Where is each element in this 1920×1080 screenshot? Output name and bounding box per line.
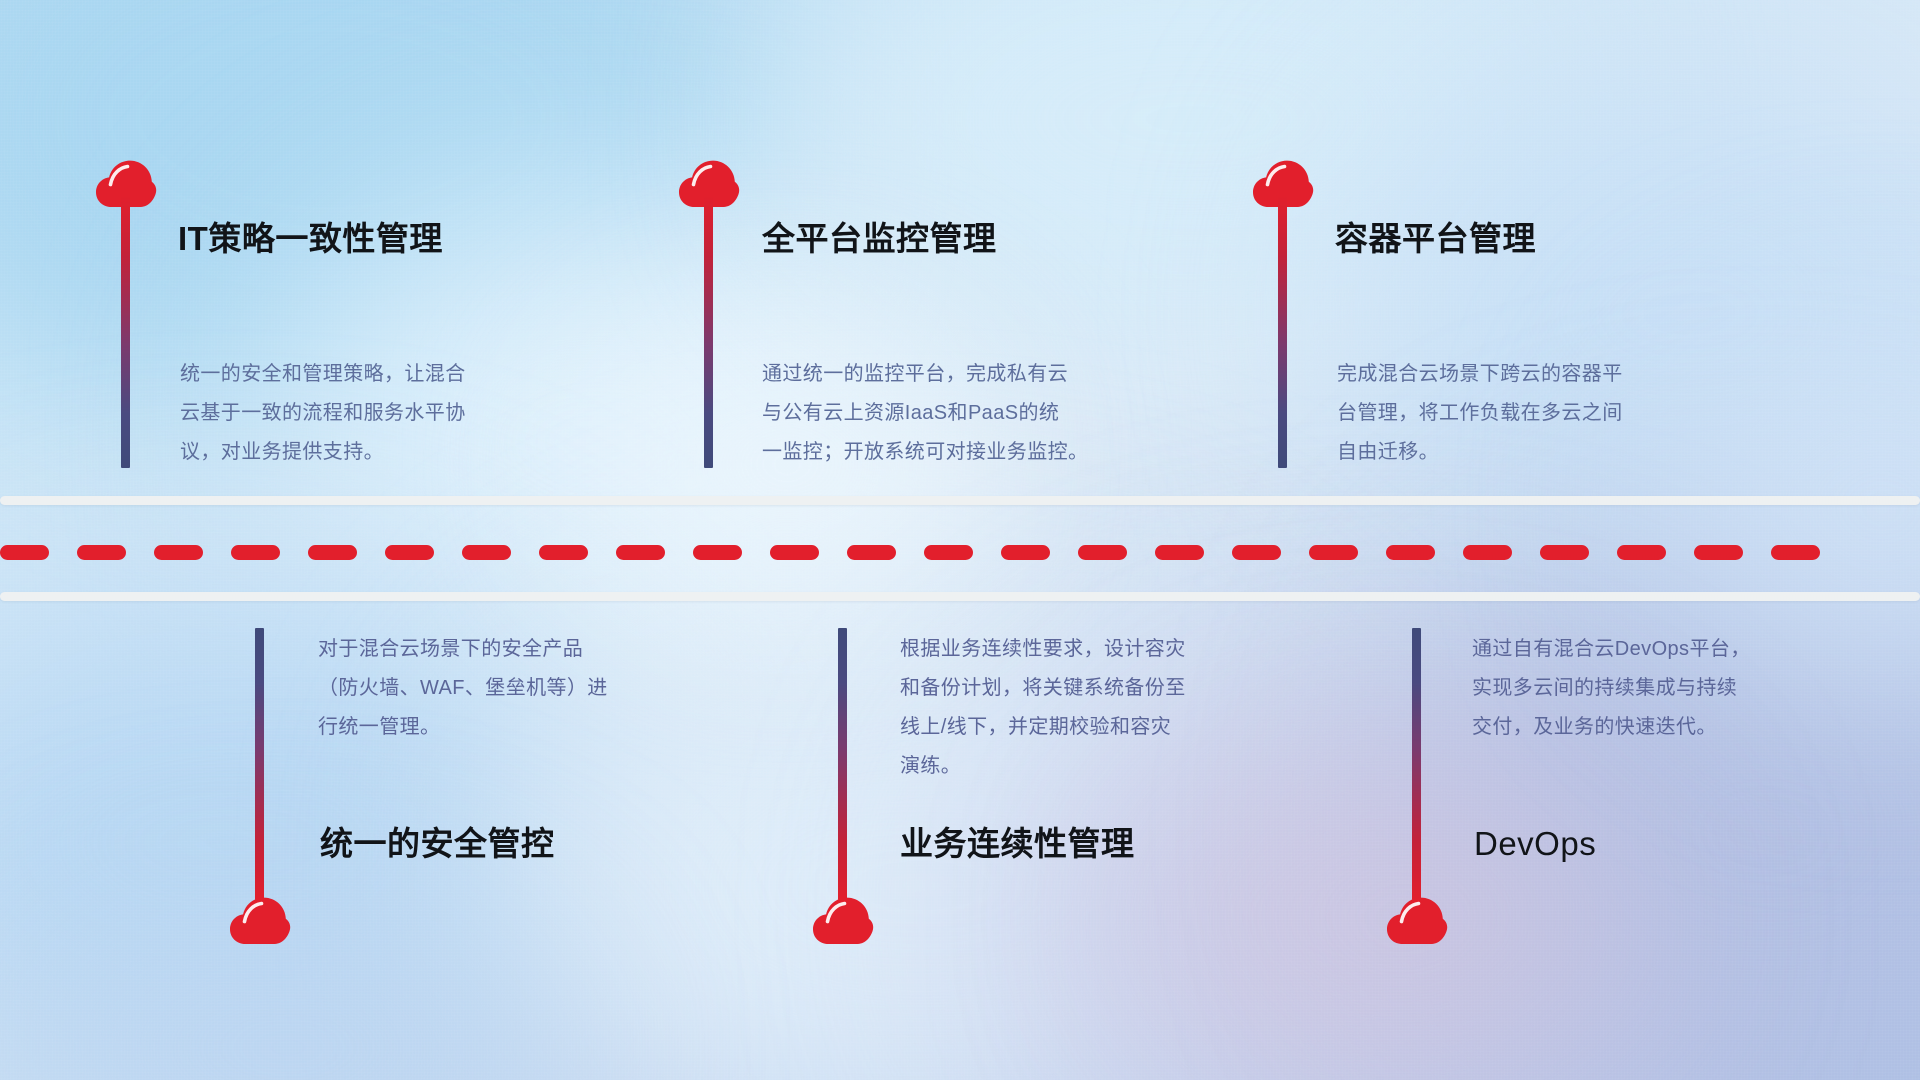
road-dash — [1771, 545, 1820, 560]
road-edge-line-bottom — [0, 592, 1920, 601]
road-dash — [308, 545, 357, 560]
cloud-icon — [229, 897, 291, 945]
item-body-text: 完成混合云场景下跨云的容器平 台管理，将工作负载在多云之间 自由迁移。 — [1337, 355, 1787, 472]
road-dash — [1617, 545, 1666, 560]
timeline-stem — [1278, 196, 1287, 468]
item-heading: 业务连续性管理 — [900, 827, 1135, 860]
item-heading: 全平台监控管理 — [762, 222, 997, 255]
cloud-icon — [812, 897, 874, 945]
item-heading: DevOps — [1474, 827, 1596, 860]
road-dash — [231, 545, 280, 560]
road-dash — [1694, 545, 1743, 560]
item-body-text: 通过统一的监控平台，完成私有云 与公有云上资源IaaS和PaaS的统 一监控；开… — [762, 355, 1212, 472]
road-dash — [1309, 545, 1358, 560]
timeline-stem — [1412, 628, 1421, 900]
item-body-text: 对于混合云场景下的安全产品 （防火墙、WAF、堡垒机等）进 行统一管理。 — [318, 630, 768, 747]
item-body-text: 通过自有混合云DevOps平台， 实现多云间的持续集成与持续 交付，及业务的快速… — [1472, 630, 1920, 747]
road-dash — [847, 545, 896, 560]
road-dash — [154, 545, 203, 560]
timeline-stem — [838, 628, 847, 900]
road-dash — [539, 545, 588, 560]
road-dash — [77, 545, 126, 560]
road-center-dashed-line — [0, 545, 1920, 560]
road-dash — [1001, 545, 1050, 560]
road-dash — [616, 545, 665, 560]
item-heading: 容器平台管理 — [1335, 222, 1536, 255]
road-dash — [1078, 545, 1127, 560]
item-heading: 统一的安全管控 — [320, 827, 555, 860]
road-dash — [1155, 545, 1204, 560]
timeline-stem — [121, 196, 130, 468]
item-body-text: 根据业务连续性要求，设计容灾 和备份计划，将关键系统备份至 线上/线下，并定期校… — [900, 630, 1350, 786]
road-dash — [1232, 545, 1281, 560]
road-dash — [1463, 545, 1512, 560]
timeline-stem — [255, 628, 264, 900]
item-body-text: 统一的安全和管理策略，让混合 云基于一致的流程和服务水平协 议，对业务提供支持。 — [180, 355, 610, 472]
road-dash — [1386, 545, 1435, 560]
road-dash — [693, 545, 742, 560]
item-heading: IT策略一致性管理 — [178, 222, 443, 255]
road-dash — [1540, 545, 1589, 560]
road-dash — [462, 545, 511, 560]
cloud-icon — [1386, 897, 1448, 945]
timeline-stem — [704, 196, 713, 468]
road-dash — [385, 545, 434, 560]
road-dash — [770, 545, 819, 560]
road-dash — [0, 545, 49, 560]
road-dash — [924, 545, 973, 560]
road-edge-line-top — [0, 496, 1920, 505]
